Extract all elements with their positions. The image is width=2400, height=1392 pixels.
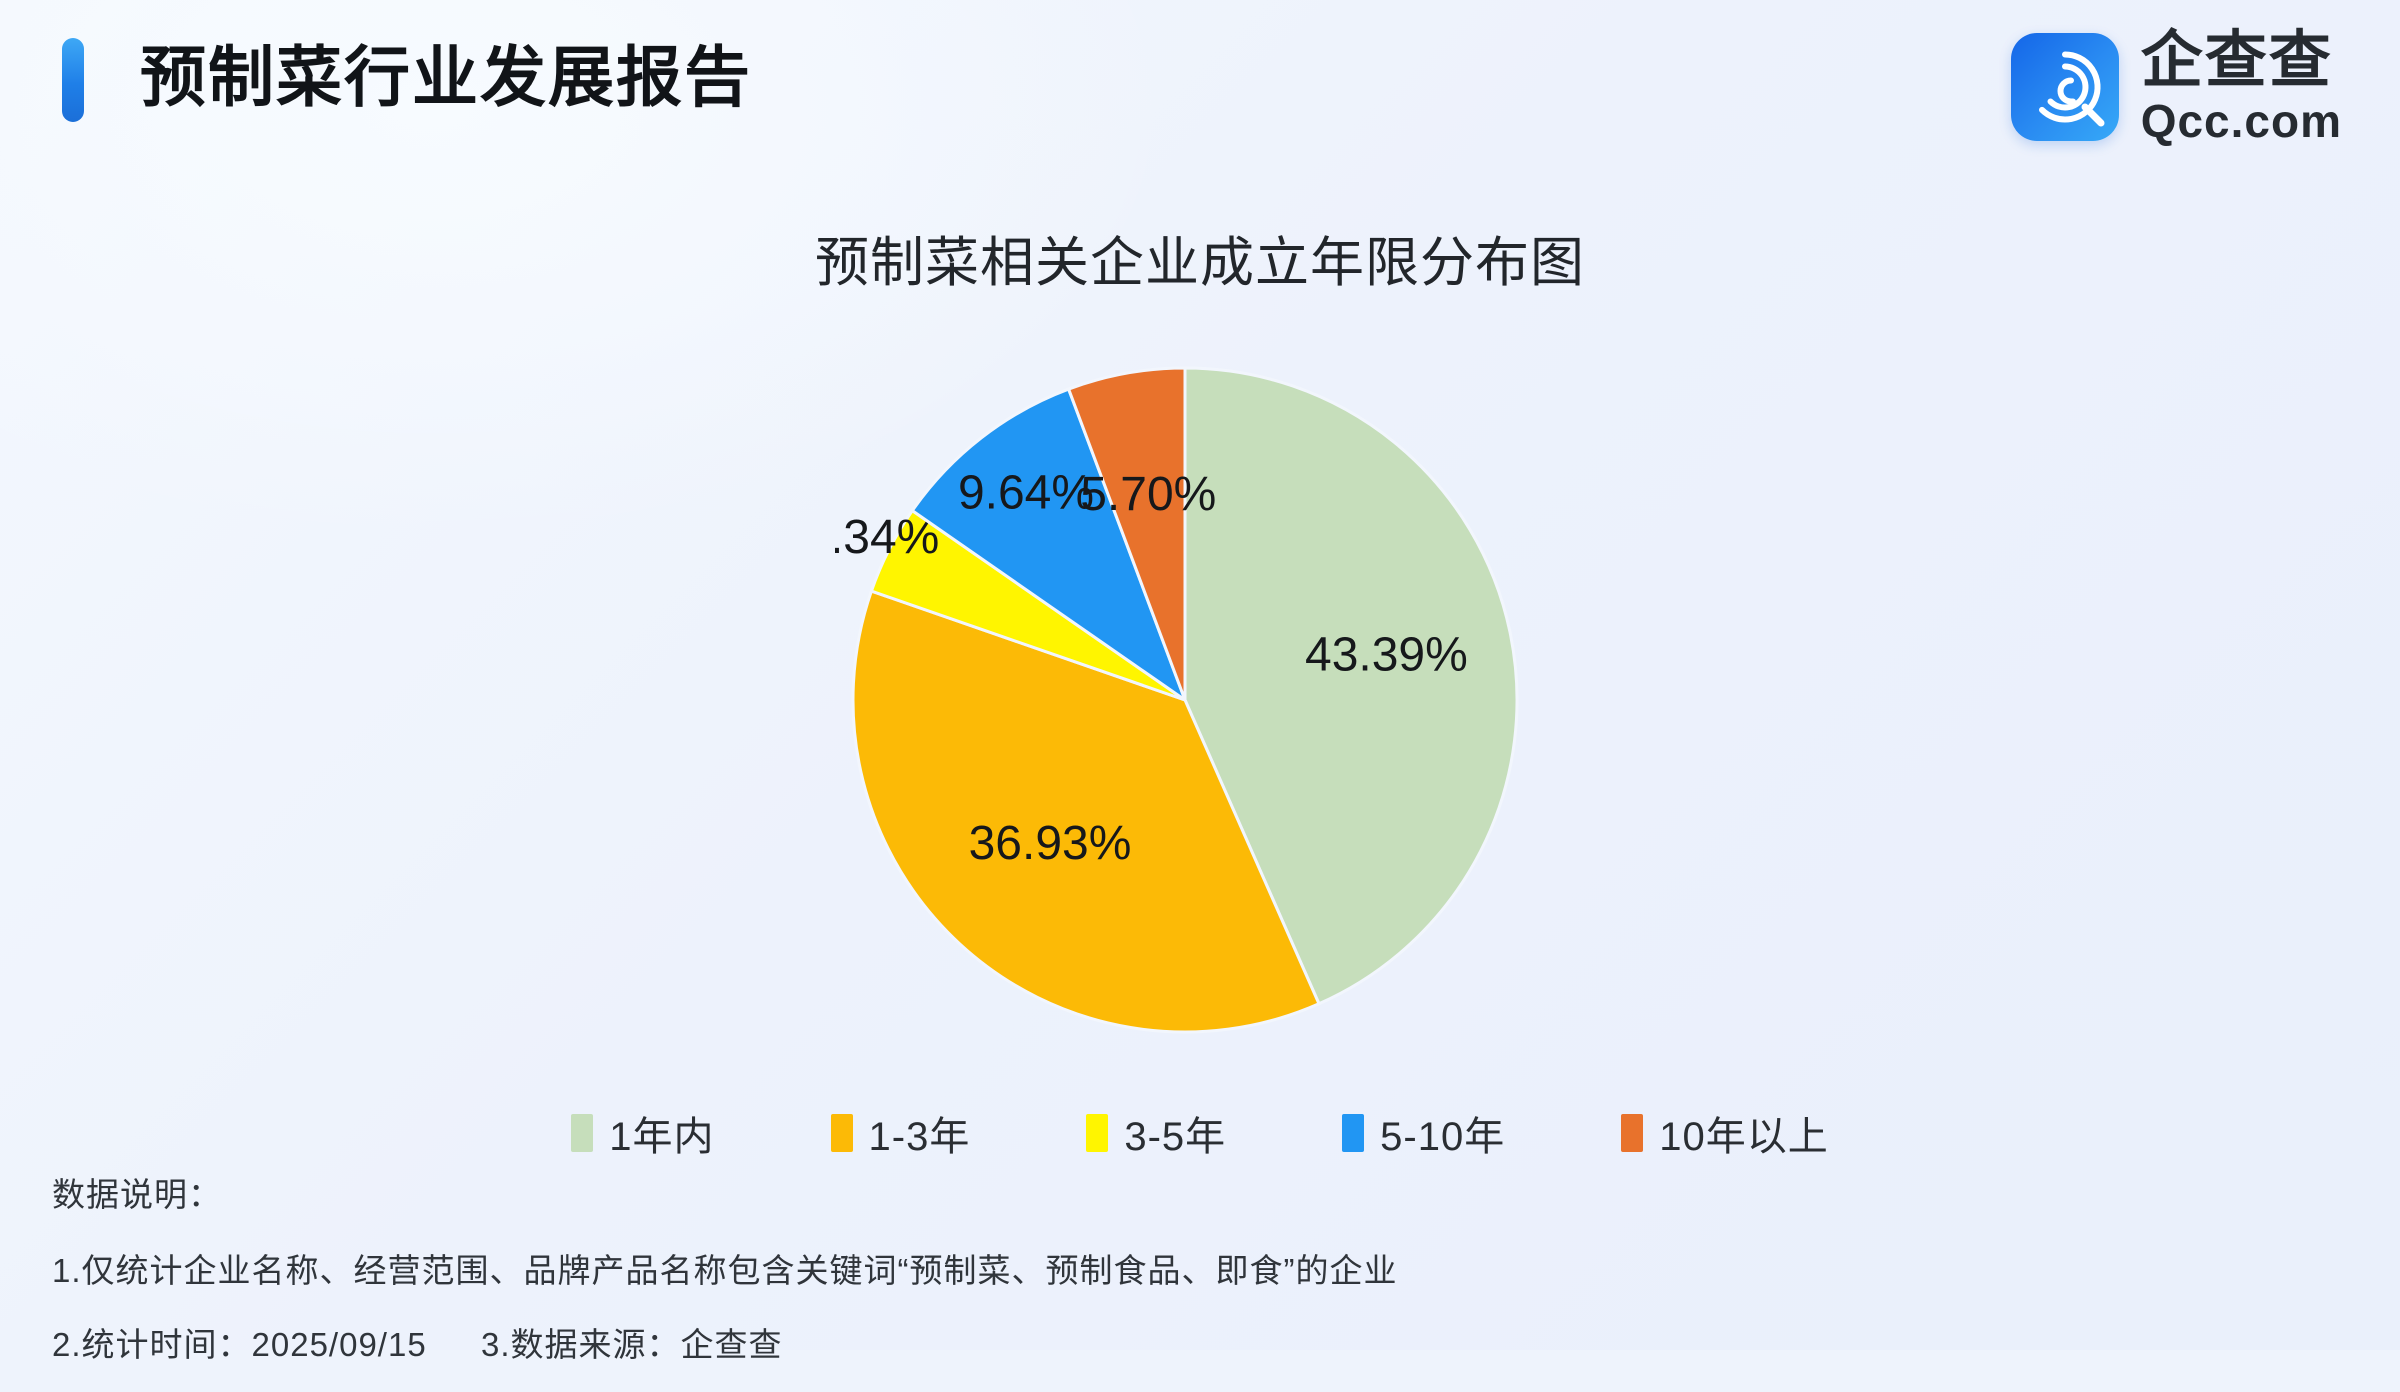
qcc-logo-icon [2011, 33, 2119, 141]
legend-item-1nei[interactable]: 1年内 [571, 1104, 714, 1162]
data-notes: 数据说明： 1.仅统计企业名称、经营范围、品牌产品名称包含关键词“预制菜、预制食… [52, 1168, 2352, 1392]
chart-legend: 1年内 1-3年 3-5年 5-10年 10年以上 [0, 1104, 2400, 1162]
legend-item-5-10[interactable]: 5-10年 [1342, 1104, 1505, 1162]
pie-slice-value-label: 43.39% [1305, 628, 1468, 681]
pie-slice-value-label: 9.64% [958, 466, 1094, 519]
legend-swatch-icon [1086, 1114, 1108, 1152]
legend-swatch-icon [831, 1114, 853, 1152]
legend-item-label: 3-5年 [1124, 1104, 1226, 1162]
note-line-1: 1.仅统计企业名称、经营范围、品牌产品名称包含关键词“预制菜、预制食品、即食”的… [52, 1244, 2352, 1292]
legend-item-10plus[interactable]: 10年以上 [1621, 1104, 1829, 1162]
legend-swatch-icon [1342, 1114, 1364, 1152]
note-line-2: 2.统计时间：2025/09/15 3.数据来源：企查查 [52, 1318, 2352, 1366]
legend-swatch-icon [1621, 1114, 1643, 1152]
brand-name-cn: 企查查 [2141, 30, 2342, 92]
page-title: 预制菜行业发展报告 [140, 27, 752, 127]
chart-title: 预制菜相关企业成立年限分布图 [0, 218, 2400, 297]
pie-slice-value-label: 5.70% [1080, 468, 1216, 521]
legend-item-label: 1-3年 [869, 1104, 971, 1162]
legend-swatch-icon [571, 1114, 593, 1152]
notes-heading: 数据说明： [52, 1168, 2352, 1216]
legend-item-1-3[interactable]: 1-3年 [831, 1104, 971, 1162]
pie-slice-value-label: 36.93% [969, 817, 1132, 870]
legend-item-label: 1年内 [609, 1104, 714, 1162]
brand-logo[interactable]: 企查查 Qcc.com [2011, 30, 2342, 144]
brand-text: 企查查 Qcc.com [2141, 30, 2342, 144]
title-accent-bar [62, 38, 84, 122]
page-header: 预制菜行业发展报告 企查查 Qcc.com [0, 0, 2400, 160]
brand-name-en: Qcc.com [2141, 98, 2342, 144]
note-data-source: 3.数据来源：企查查 [481, 1326, 783, 1363]
legend-item-3-5[interactable]: 3-5年 [1086, 1104, 1226, 1162]
note-stat-time: 2.统计时间：2025/09/15 [52, 1326, 427, 1363]
legend-item-label: 10年以上 [1659, 1104, 1829, 1162]
pie-chart: 43.39%36.93%4.34%9.64%5.70% [835, 350, 1535, 1050]
report-page: 预制菜行业发展报告 企查查 Qcc.com 预制菜相关企业成立年限分布图 [0, 0, 2400, 1350]
legend-item-label: 5-10年 [1380, 1104, 1505, 1162]
chart-area: 43.39%36.93%4.34%9.64%5.70% [0, 330, 2400, 1070]
